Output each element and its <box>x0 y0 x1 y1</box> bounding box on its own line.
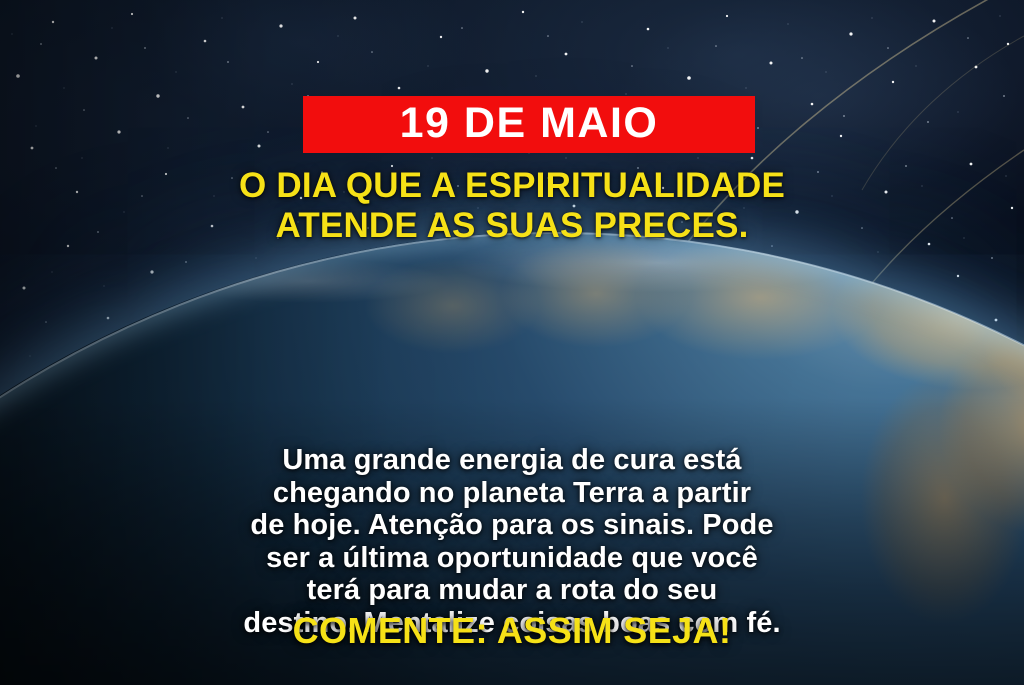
body-line-1: Uma grande energia de cura está <box>62 444 962 477</box>
call-to-action-text: COMENTE: ASSIM SEJA! <box>0 610 1024 652</box>
headline-line-1: O DIA QUE A ESPIRITUALIDADE <box>0 166 1024 206</box>
body-line-2: chegando no planeta Terra a partir <box>62 477 962 510</box>
body-line-3: de hoje. Atenção para os sinais. Pode <box>62 509 962 542</box>
body-line-4: ser a última oportunidade que você <box>62 542 962 575</box>
body-line-5: terá para mudar a rota do seu <box>62 574 962 607</box>
poster-content: 19 DE MAIO O DIA QUE A ESPIRITUALIDADE A… <box>0 0 1024 685</box>
poster-canvas: 19 DE MAIO O DIA QUE A ESPIRITUALIDADE A… <box>0 0 1024 685</box>
date-banner: 19 DE MAIO <box>303 96 755 153</box>
headline: O DIA QUE A ESPIRITUALIDADE ATENDE AS SU… <box>0 166 1024 246</box>
date-banner-text: 19 DE MAIO <box>400 102 659 145</box>
headline-line-2: ATENDE AS SUAS PRECES. <box>0 206 1024 246</box>
